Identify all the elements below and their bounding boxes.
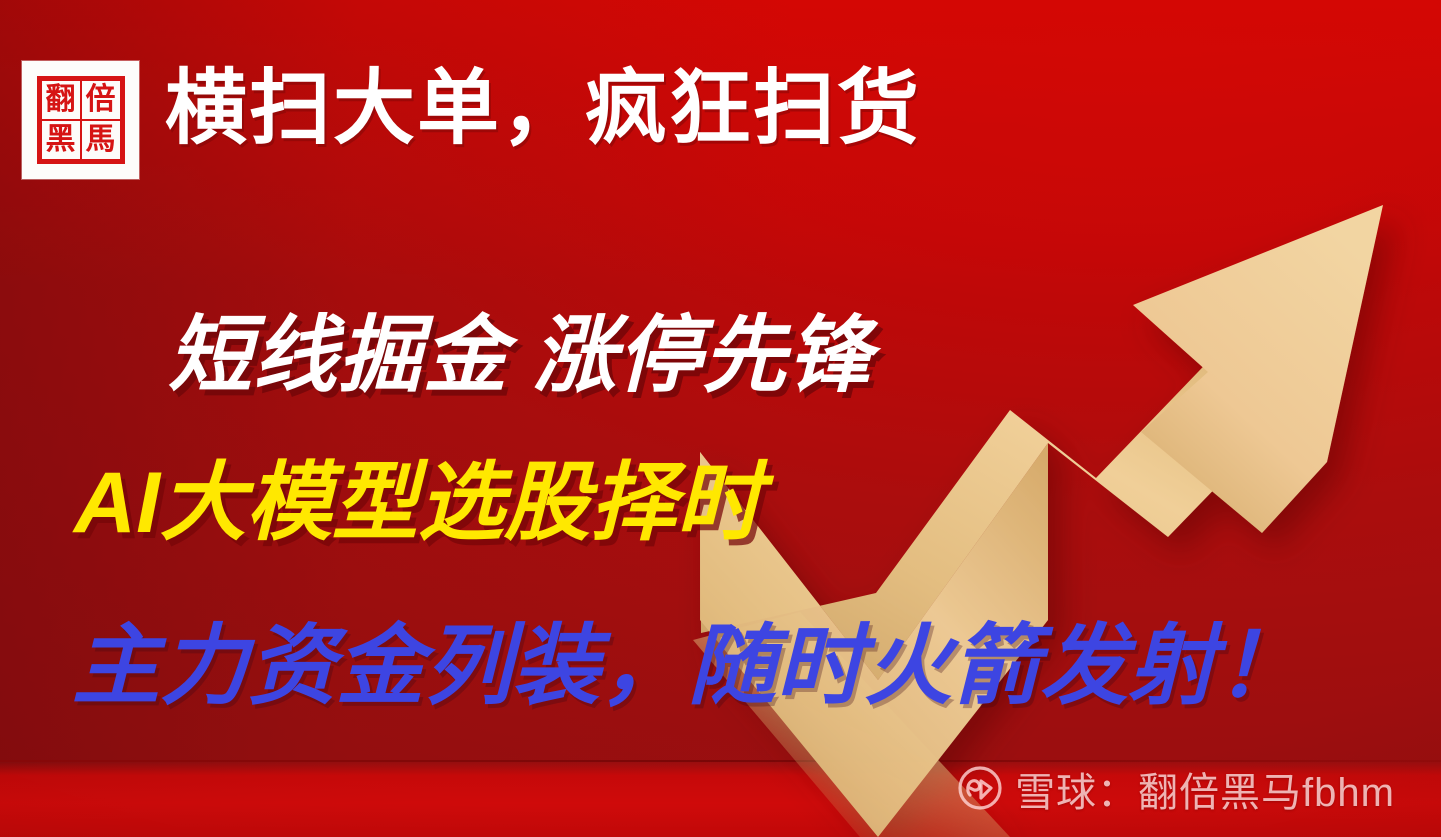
watermark-text: 雪球：翻倍黑马fbhm [1015, 773, 1395, 813]
slogan-line-yellow: AI大模型选股择时 [74, 432, 762, 557]
seal-char-3: 黑 [41, 120, 81, 160]
xueqiu-icon [957, 765, 1003, 821]
seal-char-4: 馬 [81, 120, 121, 160]
slogan-line-blue: 主力资金列装，随时火箭发射！ [72, 595, 1304, 722]
brand-seal-logo[interactable]: 翻 倍 黑 馬 [22, 61, 139, 179]
promo-poster: 翻 倍 黑 馬 横扫大单，疯狂扫货 短线掘金 涨停先锋 AI大模型选股择时 主力… [0, 0, 1441, 837]
seal-char-1: 翻 [41, 80, 81, 120]
slogan-line-white: 短线掘金 涨停先锋 [168, 288, 872, 409]
watermark: 雪球：翻倍黑马fbhm [957, 765, 1395, 821]
seal-char-2: 倍 [81, 80, 121, 120]
poster-headline: 横扫大单，疯狂扫货 [165, 66, 921, 152]
seal-grid: 翻 倍 黑 馬 [37, 76, 125, 164]
